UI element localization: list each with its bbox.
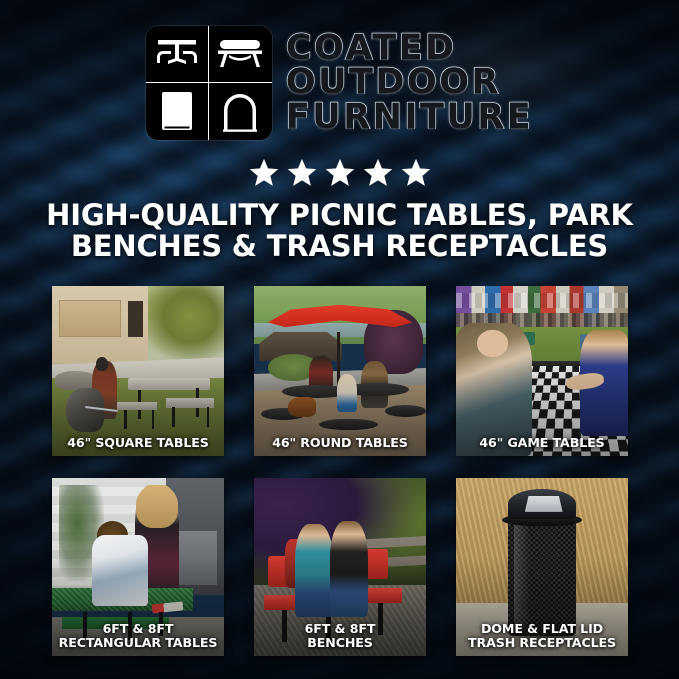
tile-trash-receptacles[interactable]: DOME & FLAT LID TRASH RECEPTACLES — [456, 478, 628, 656]
trash-receptacle-icon — [146, 83, 209, 140]
headline: HIGH-QUALITY PICNIC TABLES, PARK BENCHES… — [0, 200, 679, 262]
tile-caption: 46" GAME TABLES — [456, 436, 628, 449]
tile-caption: 46" SQUARE TABLES — [52, 436, 224, 449]
tile-benches[interactable]: 6FT & 8FT BENCHES — [254, 478, 426, 656]
brand-logo: COATED OUTDOOR FURNITURE — [0, 26, 679, 140]
bike-rack-icon — [209, 83, 272, 140]
coated-outdoor-furniture-logo-icon — [146, 26, 272, 140]
star-icon-3 — [325, 158, 355, 187]
promo-banner: COATED OUTDOOR FURNITURE HIGH-QUALITY PI… — [0, 0, 679, 679]
star-icon-1 — [249, 158, 279, 187]
brand-word-outdoor: OUTDOOR — [286, 66, 533, 99]
banner-content: COATED OUTDOOR FURNITURE HIGH-QUALITY PI… — [0, 0, 679, 679]
tile-rectangular-tables[interactable]: 6FT & 8FT RECTANGULAR TABLES — [52, 478, 224, 656]
star-icon-5 — [401, 158, 431, 187]
brand-word-furniture: FURNITURE — [286, 101, 533, 134]
tile-caption: 46" ROUND TABLES — [254, 436, 426, 449]
tile-square-tables[interactable]: 46" SQUARE TABLES — [52, 286, 224, 456]
bench-table-icon — [209, 26, 272, 83]
tile-caption: 6FT & 8FT RECTANGULAR TABLES — [52, 622, 224, 649]
tile-caption: 6FT & 8FT BENCHES — [254, 622, 426, 649]
brand-word-coated: COATED — [286, 32, 533, 65]
star-icon-2 — [287, 158, 317, 187]
star-rating — [0, 158, 679, 187]
product-tile-grid: 46" SQUARE TABLES — [52, 286, 628, 656]
star-icon-4 — [363, 158, 393, 187]
tile-caption: DOME & FLAT LID TRASH RECEPTACLES — [456, 622, 628, 649]
headline-line-2: BENCHES & TRASH RECEPTACLES — [26, 231, 653, 262]
picnic-table-icon — [146, 26, 209, 83]
brand-wordmark: COATED OUTDOOR FURNITURE — [286, 32, 533, 134]
tile-round-tables[interactable]: 46" ROUND TABLES — [254, 286, 426, 456]
tile-game-tables[interactable]: 46" GAME TABLES — [456, 286, 628, 456]
headline-line-1: HIGH-QUALITY PICNIC TABLES, PARK — [46, 198, 633, 232]
